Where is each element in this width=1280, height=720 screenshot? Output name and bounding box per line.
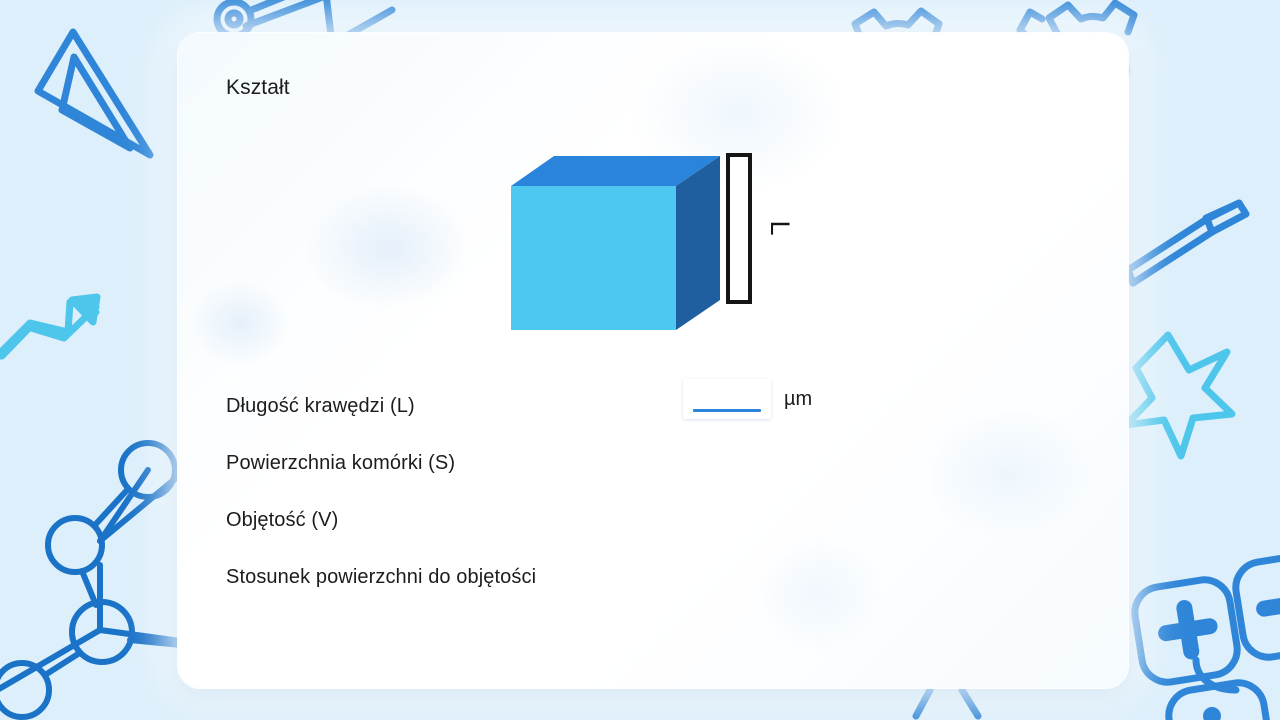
dimension-bracket: [728, 155, 750, 302]
label-cell-surface: Powierzchnia komórki (S): [226, 452, 455, 475]
label-volume: Objętość (V): [226, 509, 338, 532]
cube-diagram: L: [488, 128, 808, 348]
cube-side-face: [676, 156, 720, 330]
edge-length-input[interactable]: [683, 379, 771, 419]
label-edge-length: Długość krawędzi (L): [226, 395, 415, 418]
edge-length-unit: µm: [784, 388, 812, 411]
app-root: Kształt L Długość krawędzi (L): [0, 0, 1280, 720]
pencil-icon: [1128, 203, 1246, 283]
arrow-trend-icon: [0, 297, 97, 357]
label-surface-to-volume-ratio: Stosunek powierzchni do objętości: [226, 566, 536, 589]
cube-front-face: [511, 186, 676, 330]
edge-length-field-group: µm: [683, 379, 812, 419]
calculator-keys-icon: [1131, 551, 1280, 720]
triangle-ruler-icon: [38, 32, 150, 155]
star-icon: [1126, 335, 1232, 456]
shape-calculator-card: Kształt L Długość krawędzi (L): [178, 33, 1128, 688]
row-cell-surface: Powierzchnia komórki (S): [226, 448, 1086, 478]
page-title: Kształt: [226, 76, 290, 100]
row-volume: Objętość (V): [226, 505, 1086, 535]
row-edge-length: Długość krawędzi (L) µm: [226, 391, 1086, 421]
row-surface-to-volume-ratio: Stosunek powierzchni do objętości: [226, 562, 1086, 592]
dimension-label-L: L: [765, 220, 795, 235]
dimension-label-text: L: [765, 220, 795, 235]
input-underline: [693, 409, 761, 412]
